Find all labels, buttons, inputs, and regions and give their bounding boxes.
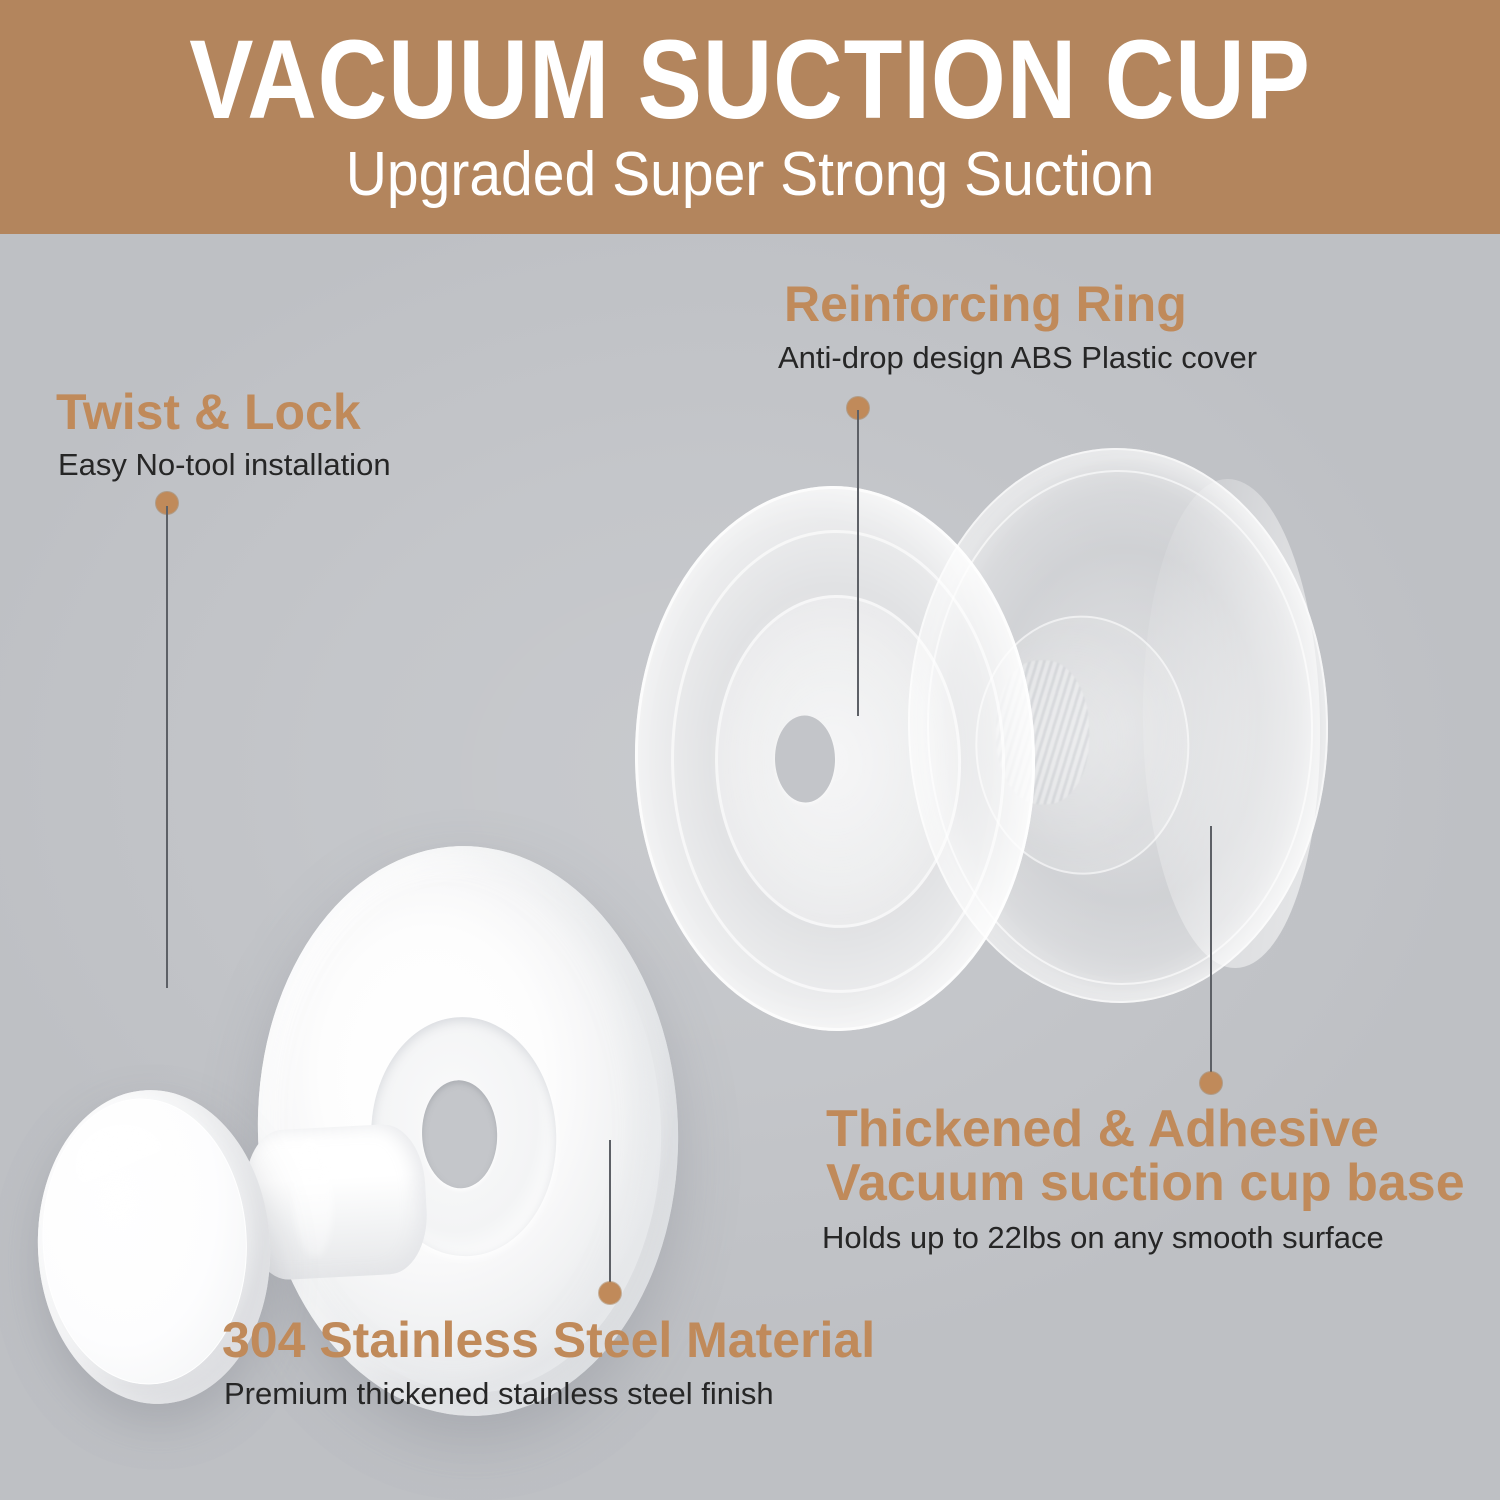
product-infographic: VACUUM SUCTION CUP Upgraded Super Strong… bbox=[0, 0, 1500, 1500]
page-title: VACUUM SUCTION CUP bbox=[105, 24, 1395, 136]
header-banner: VACUUM SUCTION CUP Upgraded Super Strong… bbox=[0, 0, 1500, 234]
leader-dot-suction-base bbox=[1200, 1072, 1222, 1094]
leader-line-reinforcing-ring bbox=[857, 410, 859, 716]
callout-title-reinforcing-ring: Reinforcing Ring bbox=[784, 278, 1187, 331]
leader-line-steel-material bbox=[609, 1140, 611, 1286]
leader-line-suction-base bbox=[1210, 826, 1212, 1076]
callout-subtitle-twist-lock: Easy No-tool installation bbox=[58, 447, 391, 483]
leader-line-twist-lock bbox=[166, 506, 168, 988]
product-stage: Reinforcing Ring Anti-drop design ABS Pl… bbox=[0, 234, 1500, 1500]
callout-title-twist-lock: Twist & Lock bbox=[56, 386, 361, 439]
page-subtitle: Upgraded Super Strong Suction bbox=[60, 144, 1440, 206]
callout-subtitle-suction-base: Holds up to 22lbs on any smooth surface bbox=[822, 1220, 1384, 1256]
knob-stem bbox=[242, 1122, 430, 1281]
callout-title-suction-base-line2: Vacuum suction cup base bbox=[826, 1156, 1465, 1211]
knob-stem-highlight bbox=[290, 1139, 336, 1258]
callout-subtitle-reinforcing-ring: Anti-drop design ABS Plastic cover bbox=[778, 340, 1257, 376]
leader-dot-steel-material bbox=[599, 1282, 621, 1304]
callout-subtitle-steel-material: Premium thickened stainless steel finish bbox=[224, 1376, 774, 1412]
callout-title-suction-base-line1: Thickened & Adhesive bbox=[826, 1102, 1379, 1157]
callout-title-steel-material: 304 Stainless Steel Material bbox=[222, 1314, 875, 1367]
